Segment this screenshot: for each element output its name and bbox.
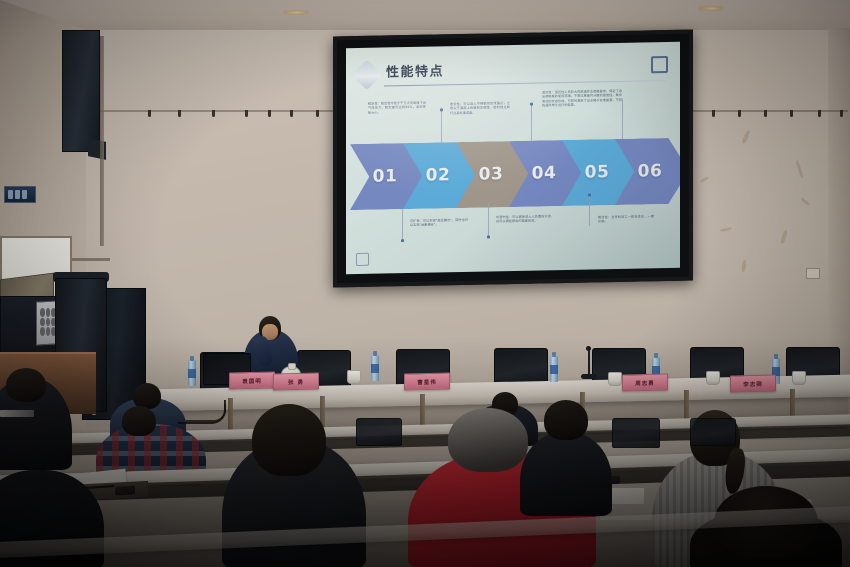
chevron-process-diagram: 01 02 03 04 05 06	[350, 138, 680, 210]
nameplate-text: 李志刚	[743, 379, 763, 387]
audience-head	[252, 404, 326, 476]
nameplate: 张 勇	[273, 373, 319, 391]
jacket-chest-print	[0, 410, 34, 417]
connector-line	[589, 196, 590, 226]
chevron-step-number: 04	[532, 163, 557, 183]
rail-hook-icon	[212, 110, 215, 117]
nameplate: 周志勇	[622, 374, 668, 392]
nameplate-text: 张 勇	[288, 377, 304, 385]
connector-line	[622, 99, 623, 143]
connector-dot-icon	[440, 108, 443, 111]
exit-sign-glyph	[8, 190, 13, 199]
rail-hook-icon	[790, 110, 793, 117]
slide-note-bottom-3: 整洁性：全身的加工一体包任化，一键安装。	[598, 214, 654, 224]
nameplate: 李志刚	[730, 375, 776, 393]
slide-note-bottom-1: 可扩性：可以实现"就近耦合"，同时也可以实现"远距耦合"。	[410, 218, 468, 228]
corner-bracket-icon	[651, 56, 668, 73]
rail-hook-icon	[290, 110, 293, 117]
microphone-stem	[588, 350, 590, 376]
audience-chair[interactable]	[612, 418, 660, 448]
slide-note-top-2: 密封性：可以进入不锈钢泄压泄漏点，之表尖于温面上高度的压缩性，密封性达到行业高标…	[450, 101, 510, 115]
rail-hook-icon	[245, 110, 248, 117]
mobile-phone[interactable]	[115, 485, 135, 495]
connector-line	[531, 105, 532, 145]
nameplate: 袁国明	[229, 372, 275, 390]
nameplate-text: 周志勇	[635, 378, 655, 386]
rail-hook-icon	[178, 110, 181, 117]
cup[interactable]	[792, 371, 806, 385]
bottle-label	[550, 365, 558, 374]
nameplate-text: 袁国明	[242, 376, 262, 384]
exit-sign-glyph	[22, 190, 27, 199]
ceiling-light-icon	[698, 6, 724, 11]
exit-sign	[4, 186, 36, 203]
audience-person-black-jacket	[520, 432, 612, 516]
projection-screen: 性能特点 稳定性：稳定性不低于千万次无故障下运气体压力，稳定度可达到99%，波动…	[333, 30, 693, 288]
slide-title-underline	[384, 80, 666, 86]
exit-sign-glyph	[15, 190, 20, 199]
slide-page-marker	[356, 253, 369, 266]
rail-hook-icon	[840, 110, 843, 117]
water-bottle[interactable]	[188, 360, 196, 386]
connector-dot-icon	[401, 239, 404, 242]
rail-hook-icon	[738, 110, 741, 117]
ceiling-light-icon	[283, 10, 309, 15]
conference-room-photo: 性能特点 稳定性：稳定性不低于千万次无故障下运气体压力，稳定度可达到99%，波动…	[0, 0, 850, 567]
slide-note-bottom-2: 可调节性：可以调控进入人员重的分选，也可以调控排出的温度形成。	[496, 214, 554, 224]
connector-line	[402, 209, 403, 241]
audience-chair[interactable]	[690, 418, 736, 446]
rail-hook-icon	[316, 110, 319, 117]
audience-chair[interactable]	[356, 418, 402, 446]
slide-note-top-1: 稳定性：稳定性不低于千万次无故障下运气体压力，稳定度可达到99%，波动性极大小。	[368, 101, 426, 115]
diamond-icon	[351, 59, 382, 90]
connector-dot-icon	[530, 103, 533, 106]
ceiling-speaker	[62, 30, 100, 152]
paper-sheet[interactable]	[608, 488, 645, 504]
cup[interactable]	[706, 371, 720, 385]
rail-hook-icon	[818, 110, 821, 117]
connector-line	[488, 203, 489, 237]
cup[interactable]	[608, 372, 622, 386]
slide-note-top-3: 适应性：适应性人员较大的高温作业规格要求，保证了进出高精度的使用范围，不易过度量…	[542, 89, 622, 108]
audience-head	[122, 406, 156, 436]
microphone-base[interactable]	[581, 374, 597, 379]
chevron-step-number: 05	[585, 162, 610, 182]
connector-dot-icon	[487, 235, 490, 238]
audience-head	[6, 368, 46, 402]
wall-outlet[interactable]	[806, 268, 820, 279]
slide-title: 性能特点	[386, 60, 444, 80]
chevron-step-number: 06	[638, 161, 663, 181]
projected-slide: 性能特点 稳定性：稳定性不低于千万次无故障下运气体压力，稳定度可达到99%，波动…	[346, 42, 680, 274]
chevron-step-number: 01	[373, 166, 398, 186]
audience-head-grey-hair	[448, 408, 528, 472]
connector-line	[441, 110, 442, 146]
slide-header: 性能特点	[356, 54, 670, 94]
nameplate-text: 曹星伟	[417, 377, 437, 385]
wall-conduit	[100, 36, 104, 246]
chevron-step-number: 03	[479, 164, 504, 184]
chevron-step-number: 02	[426, 165, 451, 185]
bottle-label	[371, 364, 379, 373]
cable-bundle	[186, 404, 226, 422]
nameplate: 曹星伟	[404, 373, 450, 391]
rail-hook-icon	[764, 110, 767, 117]
rail-hook-icon	[712, 110, 715, 117]
rail-hook-icon	[268, 110, 271, 117]
cup[interactable]	[347, 370, 361, 384]
connector-dot-icon	[588, 194, 591, 197]
water-bottle[interactable]	[371, 355, 379, 381]
slide-content: 性能特点 稳定性：稳定性不低于千万次无故障下运气体压力，稳定度可达到99%，波动…	[346, 42, 680, 274]
bottle-label	[188, 369, 196, 378]
rail-hook-icon	[148, 110, 151, 117]
audience-head	[544, 400, 588, 440]
wall-conduit	[70, 258, 110, 261]
water-bottle[interactable]	[550, 356, 558, 382]
